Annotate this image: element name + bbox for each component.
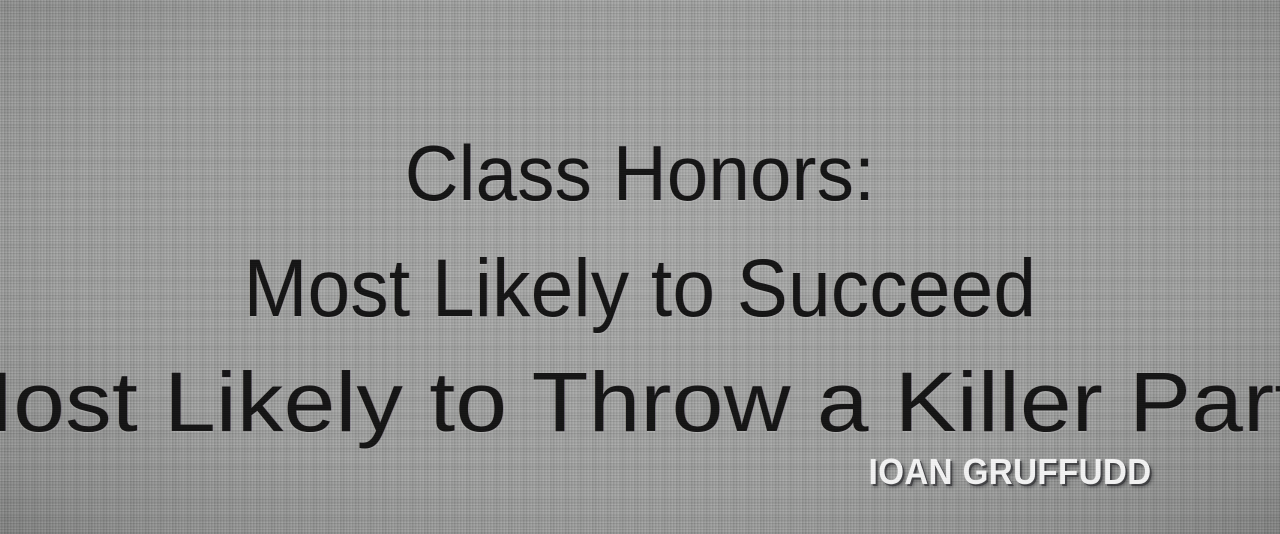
title-line-class-honors: Class Honors: [32, 134, 1248, 212]
title-card-frame: Class Honors: Most Likely to Succeed Mos… [0, 0, 1280, 534]
cast-credit-name: IOAN GRUFFUDD [869, 454, 1152, 490]
title-line-most-likely-to-throw-a-killer-party: Most Likely to Throw a Killer Party [0, 360, 1280, 444]
title-line-most-likely-to-succeed: Most Likely to Succeed [45, 248, 1235, 330]
